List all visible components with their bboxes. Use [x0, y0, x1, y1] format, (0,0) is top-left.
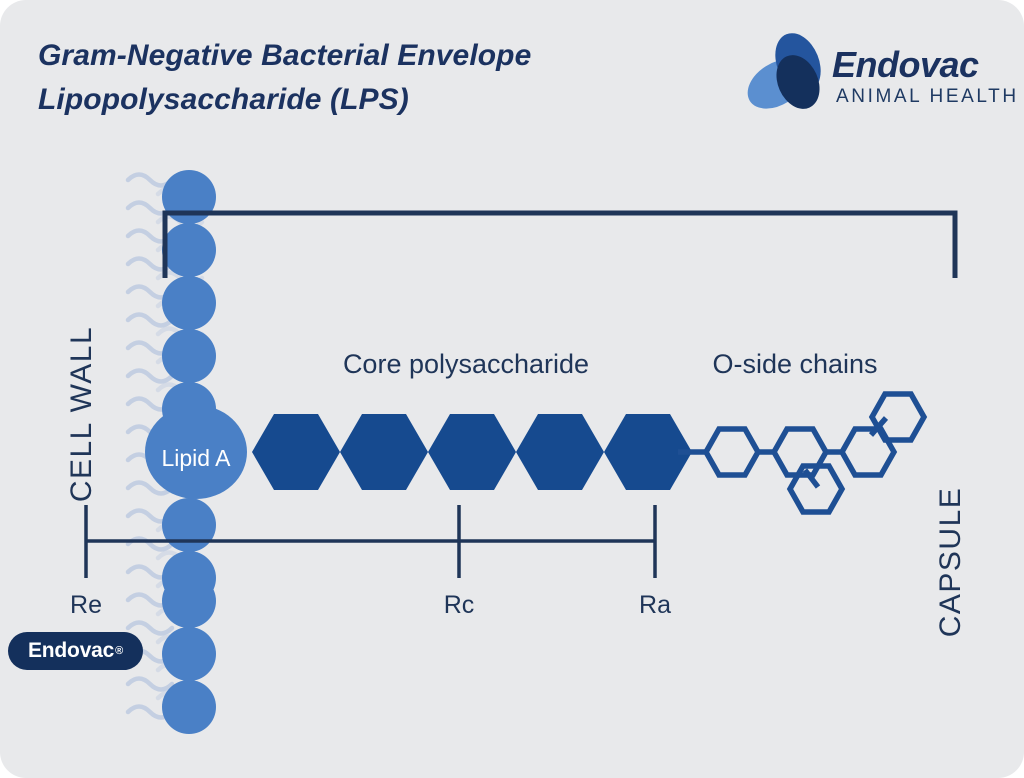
core-polysaccharide-label: Core polysaccharide — [343, 349, 589, 379]
registered-mark: ® — [115, 645, 123, 657]
scale-label-re: Re — [70, 591, 102, 619]
core-hexagon — [428, 414, 516, 490]
lipid-a-label: Lipid A — [161, 445, 231, 471]
screenshot-canvas: Gram-Negative Bacterial Envelope Lipopol… — [0, 0, 1024, 778]
core-hexagon — [340, 414, 428, 490]
core-hexagon — [252, 414, 340, 490]
head-group-circle — [162, 627, 216, 681]
o-side-hexagon — [842, 429, 894, 475]
diagram-card: Gram-Negative Bacterial Envelope Lipopol… — [0, 0, 1024, 778]
head-group-circle — [162, 329, 216, 383]
lipid-a-group: Lipid A — [145, 405, 247, 499]
capsule-bracket — [165, 213, 955, 278]
o-side-hexagon — [706, 429, 758, 475]
scale-label-rc: Rc — [444, 591, 475, 619]
o-side-chains-label: O-side chains — [712, 349, 877, 379]
o-side-hexagon — [872, 394, 924, 440]
endovac-badge: Endovac® — [8, 632, 143, 670]
head-group-circle — [162, 170, 216, 224]
core-polysaccharide-hexagons — [252, 414, 692, 490]
core-hexagon — [516, 414, 604, 490]
capsule-label: CAPSULE — [934, 487, 967, 638]
lps-structure-diagram: Lipid A — [0, 0, 1024, 778]
cell-wall-label: CELL WALL — [65, 326, 98, 502]
head-group-circle — [162, 574, 216, 628]
head-group-circle — [162, 680, 216, 734]
o-side-chain-group — [678, 394, 924, 512]
head-group-circle — [162, 498, 216, 552]
endovac-badge-text: Endovac — [28, 639, 114, 663]
scale-label-ra: Ra — [639, 591, 671, 619]
head-group-circle — [162, 276, 216, 330]
head-group-circle — [162, 223, 216, 277]
